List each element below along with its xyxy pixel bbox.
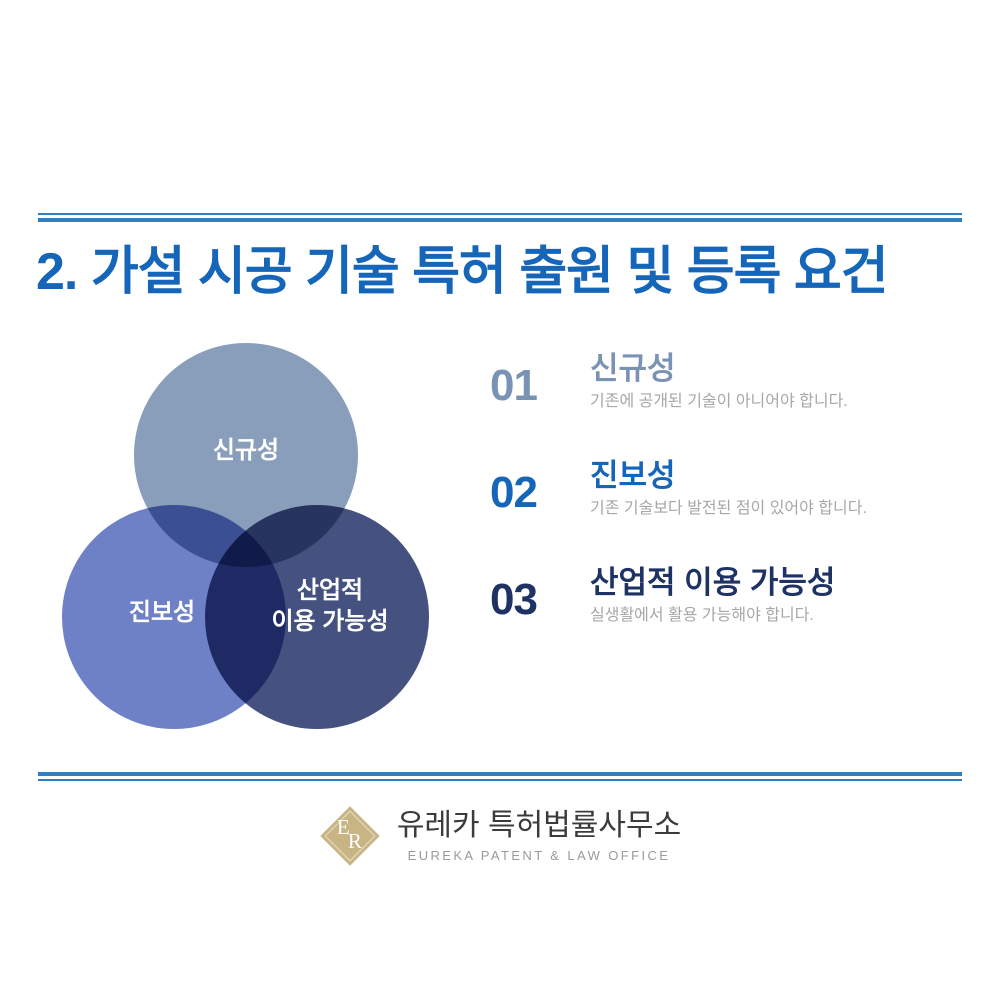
- list-item: 02 진보성 기존 기술보다 발전된 점이 있어야 합니다.: [490, 457, 970, 520]
- footer-logo: E R 유레카 특허법률사무소 EUREKA PATENT & LAW OFFI…: [0, 805, 1000, 867]
- logo-letter-r: R: [348, 831, 362, 852]
- item-body-01: 신규성 기존에 공개된 기술이 아니어야 합니다.: [590, 350, 970, 413]
- divider-top: [38, 213, 962, 222]
- list-item: 01 신규성 기존에 공개된 기술이 아니어야 합니다.: [490, 350, 970, 413]
- logo-monogram: E R: [319, 805, 381, 867]
- divider-bottom: [38, 772, 962, 781]
- logo-text-block: 유레카 특허법률사무소 EUREKA PATENT & LAW OFFICE: [397, 809, 681, 864]
- company-name-korean: 유레카 특허법률사무소: [397, 809, 681, 844]
- list-item: 03 산업적 이용 가능성 실생활에서 활용 가능해야 합니다.: [490, 564, 970, 627]
- item-description-03: 실생활에서 활용 가능해야 합니다.: [590, 605, 970, 627]
- venn-circle-industrial-applicability: [205, 505, 429, 729]
- requirements-list: 01 신규성 기존에 공개된 기술이 아니어야 합니다. 02 진보성 기존 기…: [490, 350, 970, 671]
- diamond-logo-icon: E R: [319, 805, 381, 867]
- item-number-01: 01: [490, 350, 590, 408]
- item-number-03: 03: [490, 564, 590, 622]
- item-description-01: 기존에 공개된 기술이 아니어야 합니다.: [590, 391, 970, 413]
- venn-diagram: 신규성 진보성 산업적 이용 가능성: [50, 335, 450, 745]
- item-heading-01: 신규성: [590, 350, 970, 389]
- divider-bottom-thin-line: [38, 779, 962, 781]
- divider-top-thick-line: [38, 218, 962, 222]
- item-description-02: 기존 기술보다 발전된 점이 있어야 합니다.: [590, 498, 970, 520]
- company-name-english: EUREKA PATENT & LAW OFFICE: [408, 848, 671, 863]
- item-body-03: 산업적 이용 가능성 실생활에서 활용 가능해야 합니다.: [590, 564, 970, 627]
- item-heading-02: 진보성: [590, 457, 970, 496]
- page-title: 2. 가설 시공 기술 특허 출원 및 등록 요건: [36, 240, 888, 305]
- item-body-02: 진보성 기존 기술보다 발전된 점이 있어야 합니다.: [590, 457, 970, 520]
- item-heading-03: 산업적 이용 가능성: [590, 564, 970, 603]
- item-number-02: 02: [490, 457, 590, 515]
- slide-canvas: 2. 가설 시공 기술 특허 출원 및 등록 요건 신규성 진보성 산업적 이용…: [0, 0, 1000, 1000]
